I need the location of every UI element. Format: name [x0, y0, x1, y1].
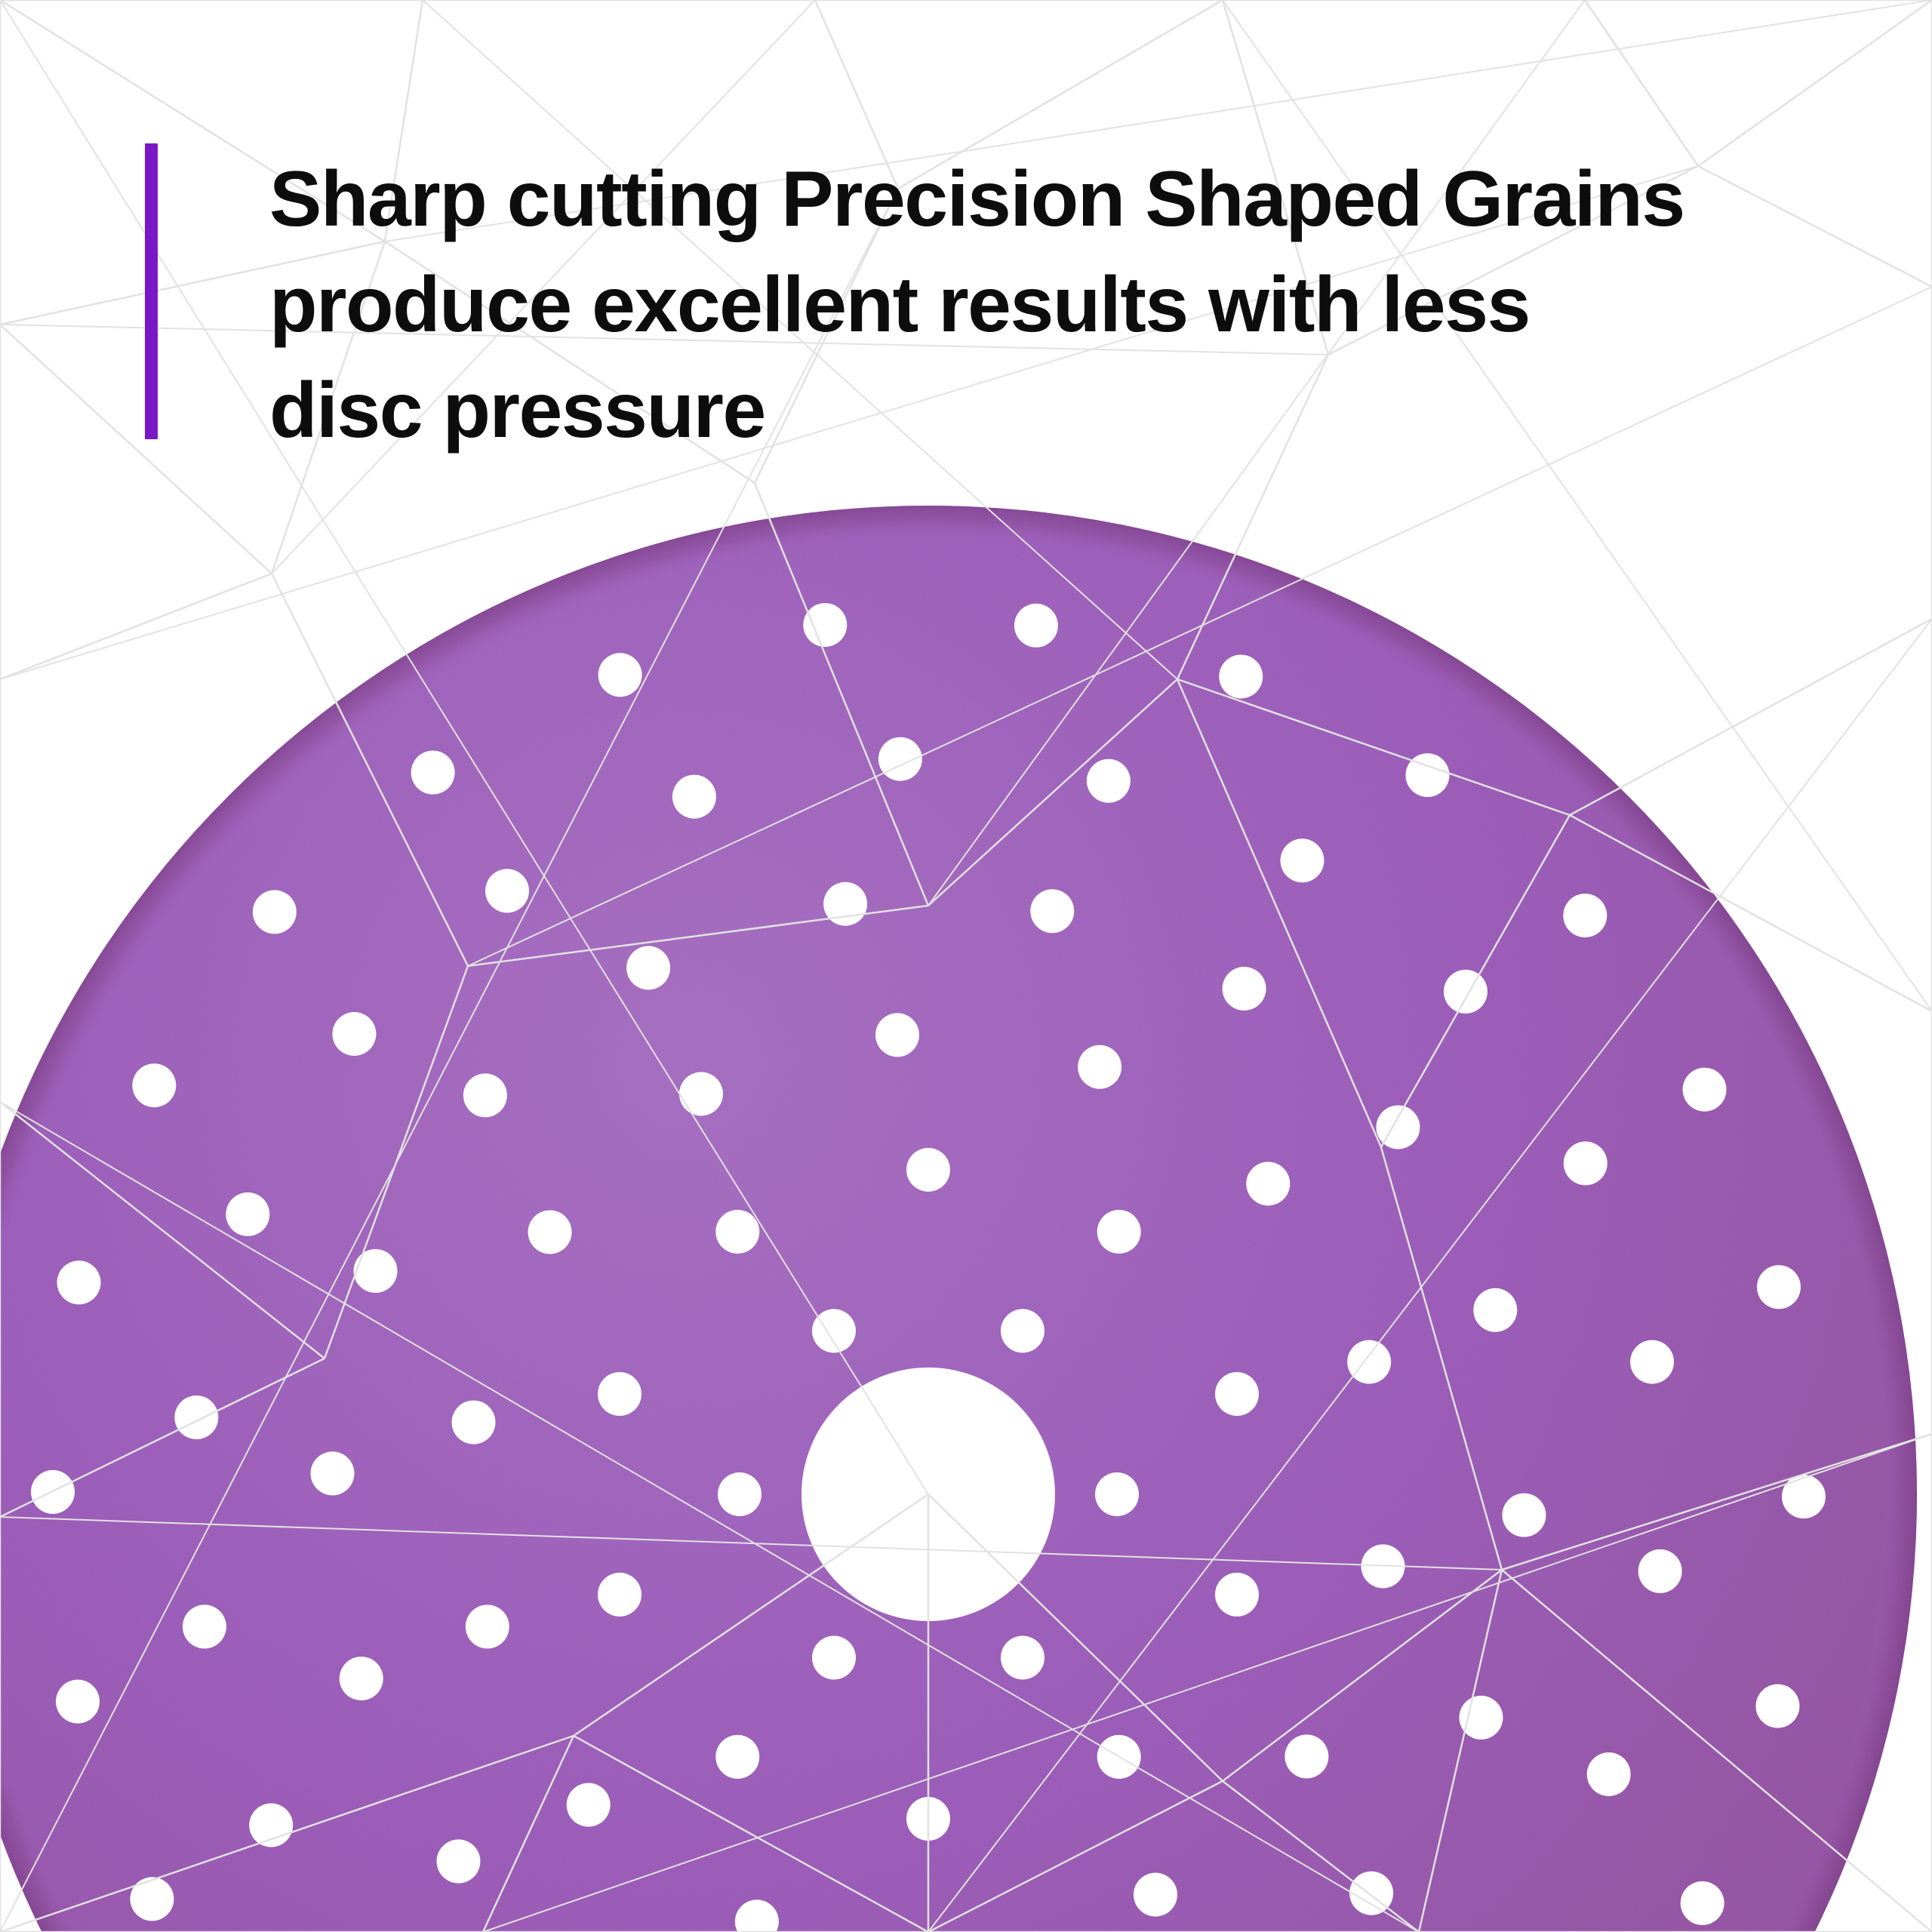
dust-extraction-hole — [56, 1680, 100, 1724]
dust-extraction-hole — [1223, 967, 1266, 1011]
dust-extraction-hole — [1757, 1265, 1801, 1309]
dust-extraction-hole — [1087, 759, 1131, 803]
dust-extraction-hole — [1406, 753, 1450, 797]
dust-extraction-hole — [598, 653, 642, 697]
dust-extraction-hole — [672, 775, 716, 819]
dust-extraction-hole — [1095, 1472, 1139, 1516]
dust-extraction-hole — [1683, 1068, 1727, 1112]
dust-extraction-hole — [253, 890, 297, 934]
dust-extraction-hole — [452, 1401, 496, 1444]
dust-extraction-hole — [463, 1073, 507, 1117]
dust-extraction-hole — [715, 1210, 759, 1254]
dust-extraction-hole — [1284, 1734, 1328, 1778]
dust-extraction-hole — [1444, 970, 1487, 1014]
dust-extraction-hole — [1377, 1106, 1420, 1149]
dust-extraction-hole — [528, 1211, 572, 1254]
dust-extraction-hole — [183, 1604, 226, 1648]
dust-extraction-hole — [1563, 894, 1607, 937]
dust-extraction-hole — [130, 1877, 174, 1921]
dust-extraction-hole — [803, 603, 847, 647]
dust-extraction-hole — [1001, 1309, 1044, 1353]
dust-extraction-hole — [906, 1797, 950, 1841]
dust-extraction-hole — [1681, 1881, 1724, 1925]
dust-extraction-hole — [332, 1012, 376, 1056]
dust-extraction-hole — [1756, 1684, 1800, 1728]
dust-extraction-hole — [1587, 1752, 1631, 1796]
dust-extraction-hole — [1638, 1549, 1682, 1593]
dust-extraction-hole — [1030, 889, 1074, 933]
dust-extraction-hole — [679, 1072, 723, 1116]
dust-extraction-hole — [812, 1636, 856, 1680]
dust-extraction-hole — [1281, 838, 1324, 882]
dust-extraction-hole — [1782, 1475, 1826, 1518]
dust-extraction-hole — [1134, 1873, 1177, 1917]
page-title: Sharp cutting Precision Shaped Grains pr… — [269, 143, 1684, 463]
disc-body — [0, 506, 1917, 1932]
dust-extraction-hole — [1349, 1872, 1393, 1915]
dust-extraction-hole — [878, 737, 922, 781]
dust-extraction-hole — [31, 1470, 75, 1514]
dust-extraction-hole — [567, 1783, 611, 1827]
dust-extraction-hole — [598, 1372, 641, 1416]
dust-extraction-hole — [249, 1804, 293, 1847]
dust-extraction-hole — [1630, 1340, 1674, 1384]
dust-extraction-hole — [823, 882, 867, 926]
dust-extraction-hole — [875, 1013, 919, 1057]
dust-extraction-hole — [1564, 1142, 1607, 1186]
dust-extraction-hole — [1215, 1573, 1259, 1617]
dust-extraction-hole — [1246, 1162, 1290, 1206]
dust-extraction-hole — [1460, 1696, 1503, 1740]
dust-extraction-hole — [174, 1395, 218, 1439]
dust-extraction-hole — [340, 1657, 383, 1700]
dust-extraction-hole — [354, 1249, 398, 1293]
dust-extraction-hole — [812, 1309, 856, 1353]
dust-extraction-hole — [132, 1063, 176, 1107]
accent-bar — [145, 143, 158, 439]
dust-extraction-hole — [1078, 1045, 1121, 1089]
dust-extraction-hole — [1215, 1372, 1259, 1416]
dust-extraction-hole — [1473, 1288, 1517, 1332]
dust-extraction-hole — [311, 1451, 355, 1495]
dust-extraction-hole — [715, 1735, 759, 1779]
dust-extraction-hole — [411, 751, 455, 795]
product-promo-image: Sharp cutting Precision Shaped Grains pr… — [0, 0, 1932, 1932]
dust-extraction-hole — [1001, 1636, 1044, 1680]
center-mounting-hole — [801, 1367, 1055, 1621]
dust-extraction-hole — [437, 1839, 481, 1883]
dust-extraction-hole — [57, 1260, 101, 1304]
dust-extraction-hole — [226, 1192, 269, 1236]
dust-extraction-hole — [1219, 655, 1263, 699]
dust-extraction-hole — [1097, 1735, 1141, 1779]
dust-extraction-hole — [1503, 1494, 1546, 1537]
dust-extraction-hole — [906, 1148, 950, 1192]
dust-extraction-hole — [626, 946, 670, 990]
dust-extraction-hole — [1097, 1210, 1141, 1254]
dust-extraction-hole — [466, 1604, 509, 1648]
headline-block: Sharp cutting Precision Shaped Grains pr… — [145, 143, 1684, 463]
dust-extraction-hole — [598, 1573, 641, 1617]
dust-extraction-hole — [1347, 1340, 1391, 1384]
dust-extraction-hole — [1014, 604, 1058, 648]
dust-extraction-hole — [718, 1472, 761, 1516]
dust-extraction-hole — [1361, 1544, 1405, 1588]
dust-extraction-hole — [485, 869, 529, 912]
